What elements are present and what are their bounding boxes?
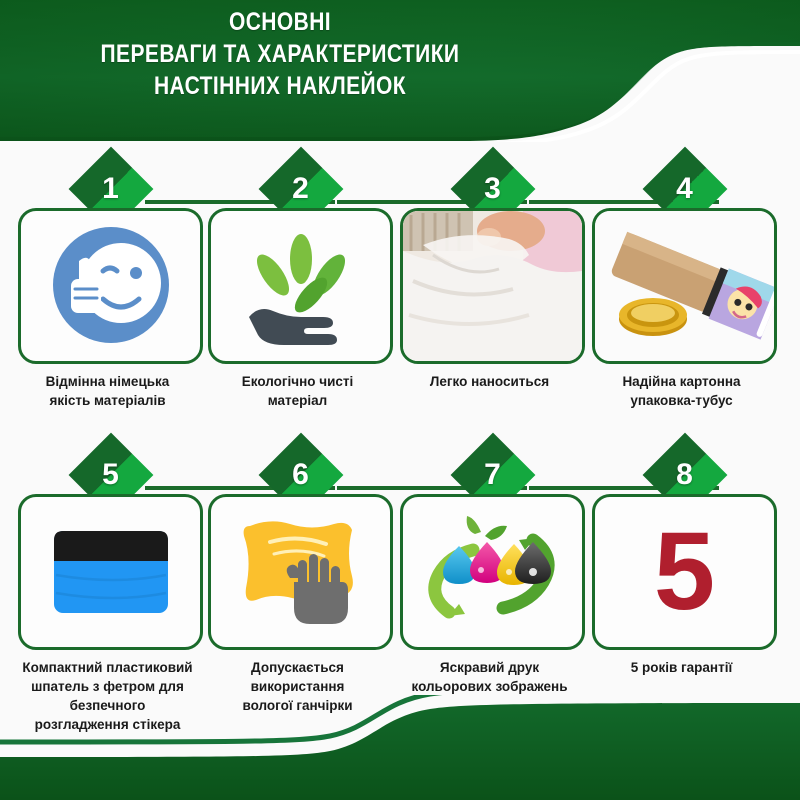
step-caption-4: Надійна картонна упаковка-тубус — [584, 372, 779, 410]
caption-line: 5 років гарантії — [584, 658, 779, 677]
caption-line: якість матеріалів — [10, 391, 205, 410]
caption-line: Компактний пластиковий — [10, 658, 205, 677]
step-icon-card-4[interactable] — [592, 208, 777, 364]
step-icon-card-1[interactable] — [18, 208, 203, 364]
steps-row-1: 1 Відмінна німецька — [0, 152, 800, 432]
caption-line: кольорових зображень — [392, 677, 587, 696]
footer-swoosh-shape — [0, 695, 800, 800]
infographic-root: ОСНОВНІ ПЕРЕВАГИ ТА ХАРАКТЕРИСТИКИ НАСТІ… — [0, 0, 800, 800]
step-icon-card-7[interactable] — [400, 494, 585, 650]
hand-with-cloth-icon — [236, 512, 366, 632]
step-caption-7: Яскравий друк кольорових зображень — [392, 658, 587, 696]
warranty-years-value: 5 — [654, 517, 715, 627]
caption-line: матеріал — [200, 391, 395, 410]
caption-line: шпатель з фетром для — [10, 677, 205, 696]
hand-holding-leaves-icon — [231, 221, 371, 351]
page-title-line-2: ПЕРЕВАГИ ТА ХАРАКТЕРИСТИКИ — [45, 38, 515, 70]
page-title-line-3: НАСТІННИХ НАКЛЕЙОК — [45, 70, 515, 102]
step-caption-1: Відмінна німецька якість матеріалів — [10, 372, 205, 410]
caption-line: Яскравий друк — [392, 658, 587, 677]
step-icon-card-5[interactable] — [18, 494, 203, 650]
caption-line: Легко наноситься — [392, 372, 587, 391]
cmyk-ink-drops-icon — [423, 510, 563, 635]
page-title: ОСНОВНІ ПЕРЕВАГИ ТА ХАРАКТЕРИСТИКИ НАСТІ… — [45, 6, 515, 102]
felt-squeegee-icon — [46, 517, 176, 627]
step-caption-8: 5 років гарантії — [584, 658, 779, 677]
peeling-sticker-photo — [403, 211, 582, 361]
step-icon-card-6[interactable] — [208, 494, 393, 650]
header-banner: ОСНОВНІ ПЕРЕВАГИ ТА ХАРАКТЕРИСТИКИ НАСТІ… — [0, 0, 800, 142]
caption-line: Екологічно чисті — [200, 372, 395, 391]
steps-row-2: 5 Компактний пластиковий шпатель з фетро… — [0, 438, 800, 728]
page-title-line-1: ОСНОВНІ — [45, 6, 515, 38]
cardboard-tube-package-photo — [595, 211, 774, 361]
thumbs-up-wink-face-icon — [41, 221, 181, 351]
caption-line: використання — [200, 677, 395, 696]
caption-line: Допускається — [200, 658, 395, 677]
caption-line: Відмінна німецька — [10, 372, 205, 391]
step-caption-3: Легко наноситься — [392, 372, 587, 391]
footer-banner — [0, 695, 800, 800]
caption-line: Надійна картонна — [584, 372, 779, 391]
step-icon-card-3[interactable] — [400, 208, 585, 364]
step-icon-card-2[interactable] — [208, 208, 393, 364]
step-caption-2: Екологічно чисті матеріал — [200, 372, 395, 410]
step-icon-card-8[interactable]: 5 — [592, 494, 777, 650]
caption-line: упаковка-тубус — [584, 391, 779, 410]
